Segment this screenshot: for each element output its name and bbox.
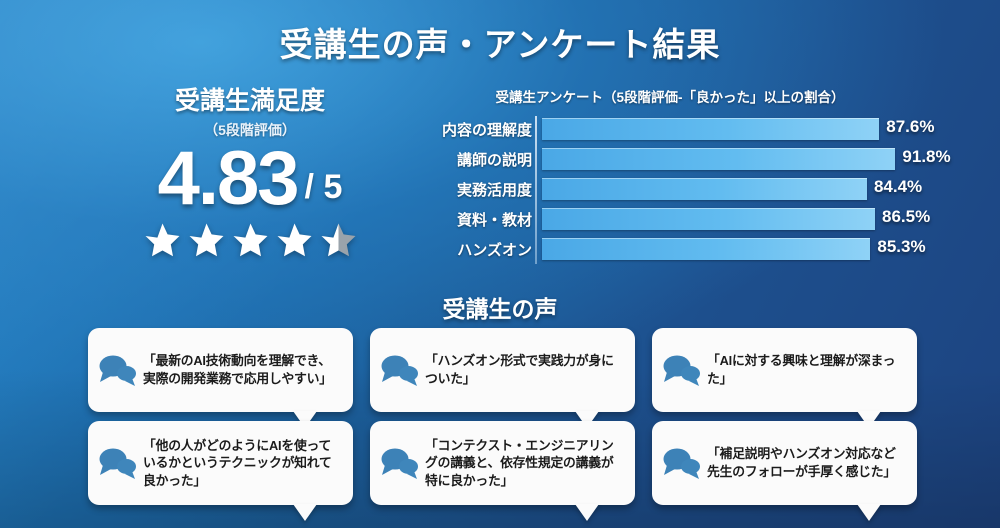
chart-bar-fill (542, 208, 875, 230)
chart-bar-row: 内容の理解度87.6% (420, 118, 920, 140)
chart-bar-track: 84.4% (539, 178, 920, 200)
star-full-icon (276, 222, 313, 258)
satisfaction-score: 4.83 (158, 142, 298, 216)
speech-bubbles-icon (97, 446, 139, 480)
voice-card-text: 「最新のAI技術動向を理解でき、実際の開発業務で応用しやすい」 (143, 352, 342, 387)
chart-bars: 内容の理解度87.6%講師の説明91.8%実務活用度84.4%資料・教材86.5… (420, 118, 920, 260)
voice-card-text: 「コンテクスト・エンジニアリングの講義と、依存性規定の講義が特に良かった」 (425, 437, 624, 490)
star-full-icon (232, 222, 269, 258)
survey-chart: 受講生アンケート（5段階評価-「良かった」以上の割合） 内容の理解度87.6%講… (420, 86, 920, 268)
chart-bar-value: 87.6% (886, 117, 934, 137)
chart-bar-value: 86.5% (882, 207, 930, 227)
chart-bar-track: 85.3% (539, 238, 920, 260)
chart-bar-row: 資料・教材86.5% (420, 208, 920, 230)
voice-card: 「他の人がどのようにAIを使っているかというテクニックが知れて良かった」 (88, 421, 353, 505)
voices-heading: 受講生の声 (0, 290, 1000, 324)
voice-card: 「補足説明やハンズオン対応など先生のフォローが手厚く感じた」 (652, 421, 917, 505)
voice-card-text: 「他の人がどのようにAIを使っているかというテクニックが知れて良かった」 (143, 437, 342, 490)
chart-bar-fill (542, 118, 879, 140)
speech-bubbles-icon (661, 353, 703, 387)
satisfaction-heading: 受講生満足度 (100, 88, 400, 116)
chart-bar-fill (542, 178, 867, 200)
speech-bubbles-icon (97, 353, 139, 387)
star-rating (100, 222, 400, 258)
speech-bubbles-icon (379, 353, 421, 387)
voice-card: 「最新のAI技術動向を理解でき、実際の開発業務で応用しやすい」 (88, 328, 353, 412)
chart-bar-fill (542, 238, 870, 260)
chart-bar-row: 実務活用度84.4% (420, 178, 920, 200)
voice-card-list: 「最新のAI技術動向を理解でき、実際の開発業務で応用しやすい」 「ハンズオン形式… (88, 328, 918, 505)
chart-bar-value: 84.4% (874, 177, 922, 197)
chart-bar-row: 講師の説明91.8% (420, 148, 920, 170)
voice-card-text: 「ハンズオン形式で実践力が身についた」 (425, 352, 624, 387)
chart-bar-value: 85.3% (877, 237, 925, 257)
voice-card: 「コンテクスト・エンジニアリングの講義と、依存性規定の講義が特に良かった」 (370, 421, 635, 505)
star-half-icon (320, 222, 357, 258)
voice-card-text: 「AIに対する興味と理解が深まった」 (707, 352, 906, 387)
satisfaction-score-row: 4.83 / 5 (100, 142, 400, 216)
speech-bubbles-icon (379, 446, 421, 480)
chart-bar-label: 内容の理解度 (420, 119, 539, 140)
star-full-icon (188, 222, 225, 258)
voice-card: 「AIに対する興味と理解が深まった」 (652, 328, 917, 412)
page-title: 受講生の声・アンケート結果 (0, 18, 1000, 66)
voice-card-text: 「補足説明やハンズオン対応など先生のフォローが手厚く感じた」 (707, 445, 906, 480)
chart-bar-label: ハンズオン (420, 239, 539, 260)
voice-card: 「ハンズオン形式で実践力が身についた」 (370, 328, 635, 412)
chart-bar-track: 87.6% (539, 118, 920, 140)
satisfaction-max: / 5 (305, 168, 343, 207)
chart-bar-value: 91.8% (902, 147, 950, 167)
chart-axis-line (535, 116, 537, 264)
slide-canvas: 受講生の声・アンケート結果 受講生満足度 （5段階評価） 4.83 / 5 受講… (0, 0, 1000, 528)
survey-chart-title: 受講生アンケート（5段階評価-「良かった」以上の割合） (420, 86, 920, 106)
chart-bar-label: 資料・教材 (420, 209, 539, 230)
star-full-icon (144, 222, 181, 258)
chart-bar-row: ハンズオン85.3% (420, 238, 920, 260)
speech-bubbles-icon (661, 446, 703, 480)
satisfaction-panel: 受講生満足度 （5段階評価） 4.83 / 5 (100, 88, 400, 258)
chart-bar-track: 86.5% (539, 208, 920, 230)
chart-bar-track: 91.8% (539, 148, 920, 170)
chart-bar-label: 実務活用度 (420, 179, 539, 200)
chart-bar-label: 講師の説明 (420, 149, 539, 170)
chart-bar-fill (542, 148, 895, 170)
